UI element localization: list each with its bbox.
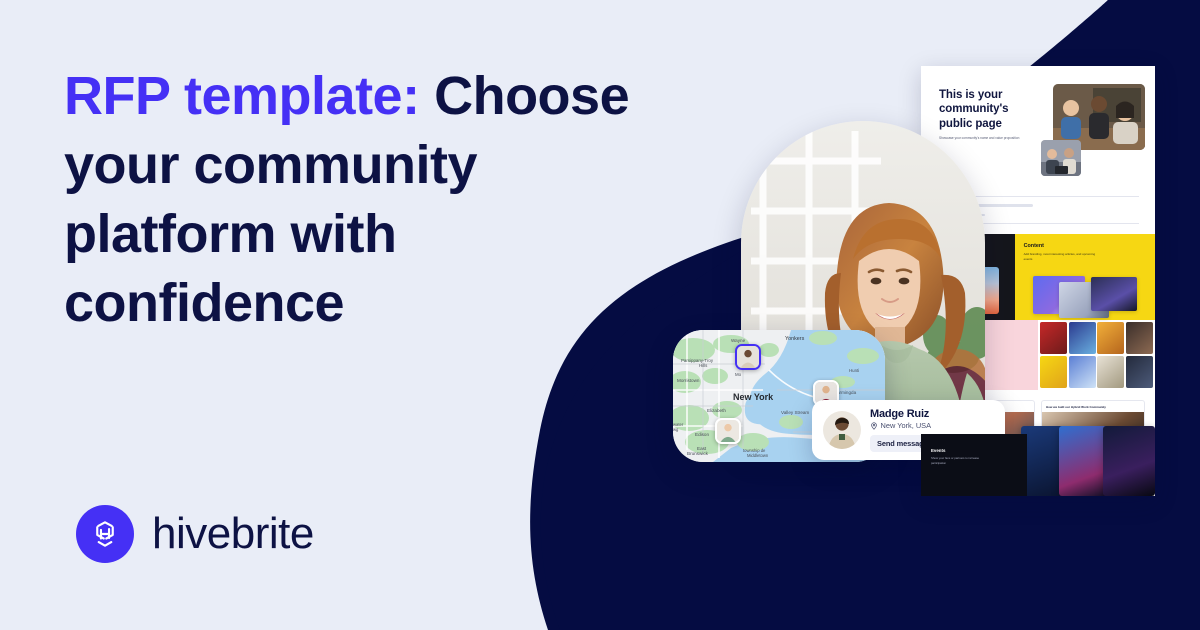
- map-pin-selected[interactable]: [735, 344, 761, 370]
- mockup-content-card: [1091, 277, 1137, 311]
- mockup-article-title: How we built our Hybrid Work Community: [1042, 401, 1144, 412]
- profile-name: Madge Ruiz: [870, 408, 996, 420]
- headline-accent: RFP template:: [64, 66, 420, 126]
- mockup-hero-subtitle: Showcase your community's name and value…: [939, 136, 1035, 141]
- hero-banner: RFP template: Choose your community plat…: [0, 0, 1200, 630]
- map-label: Yonkers: [785, 336, 805, 342]
- profile-location: New York, USA: [870, 421, 996, 430]
- map-label: Valley Stream: [781, 410, 809, 415]
- map-label: Brunswick: [687, 451, 709, 456]
- map-label: Middletown: [747, 453, 769, 458]
- page-title: RFP template: Choose your community plat…: [64, 62, 664, 338]
- mockup-content-panel: Content Add branding, most interesting a…: [1015, 234, 1155, 320]
- mockup-event-image: [1059, 426, 1109, 496]
- hivebrite-hex-logo-icon: [76, 505, 134, 563]
- map-label: wg: [673, 427, 679, 432]
- mockup-events-title: Events: [931, 448, 1017, 453]
- map-label: Mo: [735, 372, 742, 377]
- mockup-hero-photo-secondary: [1041, 140, 1081, 176]
- mockup-event-image: [1103, 426, 1155, 496]
- mockup-content-title: Content: [1024, 243, 1146, 249]
- location-pin-icon: [870, 422, 878, 430]
- mockup-events-panel: Events Show your fans or partners to inc…: [921, 434, 1027, 496]
- mockup-hero-title: This is your community's public page: [939, 88, 1035, 131]
- map-label: Edison: [695, 432, 709, 437]
- map-label: Hills: [699, 363, 708, 368]
- map-label: Parsippany-Troy: [681, 358, 714, 363]
- map-label: Hunti: [849, 368, 859, 373]
- brand-logo[interactable]: hivebrite: [76, 505, 314, 563]
- mockup-image-grid: [1038, 320, 1155, 390]
- map-label: Morristown: [677, 378, 700, 383]
- avatar: [823, 411, 861, 449]
- mockup-events-subtitle: Show your fans or partners to increase p…: [931, 456, 989, 466]
- mockup-content-subtitle: Add branding, most interesting articles,…: [1024, 252, 1096, 262]
- profile-location-text: New York, USA: [881, 421, 932, 430]
- brand-wordmark: hivebrite: [152, 512, 314, 556]
- map-label: New York: [733, 392, 774, 402]
- map-label: Elizabeth: [707, 408, 726, 413]
- map-pin-member-3[interactable]: [715, 418, 741, 444]
- map-label: Wayne: [731, 338, 746, 343]
